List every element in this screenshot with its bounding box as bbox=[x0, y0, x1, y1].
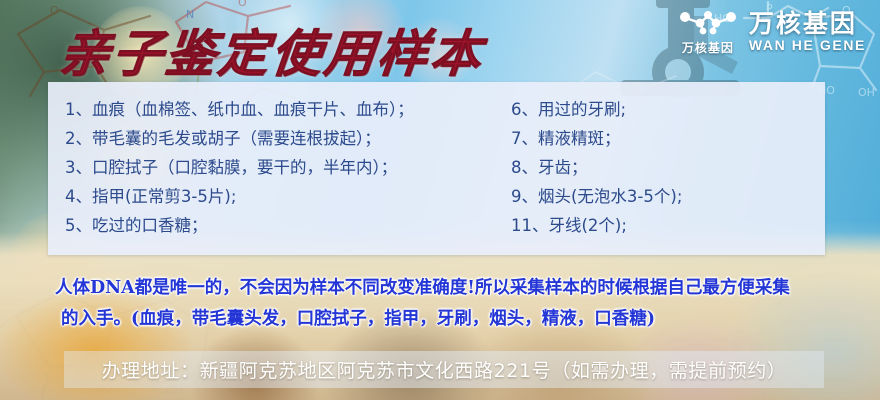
logo-wordmark: 万核基因 WAN HE GENE bbox=[749, 11, 866, 54]
sample-list-column-left: 1、血痕（血棉签、纸巾血、血痕干片、血布）； 2、带毛囊的毛发或胡子（需要连根拔… bbox=[48, 82, 493, 255]
list-item: 5、吃过的口香糖； bbox=[65, 211, 493, 240]
logo-wordmark-en: WAN HE GENE bbox=[749, 37, 866, 54]
list-item: 7、精液精斑； bbox=[511, 124, 825, 153]
list-item: 8、牙齿； bbox=[511, 153, 825, 182]
svg-text:OH: OH bbox=[858, 86, 875, 99]
address-text: 办理地址：新疆阿克苏地区阿克苏市文化西路221号（如需办理，需提前预约） bbox=[102, 356, 787, 383]
svg-text:O: O bbox=[50, 4, 59, 17]
list-item: 4、指甲(正常剪3-5片); bbox=[65, 182, 493, 211]
notice-paragraph: 人体DNA都是唯一的，不会因为样本不同改变准确度!所以采集样本的时候根据自己最方… bbox=[55, 273, 845, 335]
brand-logo: 万核基因 万核基因 WAN HE GENE bbox=[679, 9, 866, 56]
logo-mark: 万核基因 bbox=[679, 9, 737, 56]
molecule-icon bbox=[679, 9, 737, 37]
promo-banner: O HO OH N NH₂ O HO bbox=[0, 0, 880, 400]
list-item: 3、口腔拭子（口腔黏膜，要干的，半年内）； bbox=[65, 153, 493, 182]
address-bar: 办理地址：新疆阿克苏地区阿克苏市文化西路221号（如需办理，需提前预约） bbox=[64, 351, 824, 388]
logo-mark-label: 万核基因 bbox=[682, 39, 734, 56]
list-item: 1、血痕（血棉签、纸巾血、血痕干片、血布）； bbox=[65, 95, 493, 124]
sample-list-panel: 1、血痕（血棉签、纸巾血、血痕干片、血布）； 2、带毛囊的毛发或胡子（需要连根拔… bbox=[48, 82, 825, 255]
notice-line-2: 的入手。(血痕，带毛囊头发，口腔拭子，指甲，牙刷，烟头，精液，口香糖) bbox=[55, 304, 845, 335]
sample-list-column-right: 6、用过的牙刷; 7、精液精斑； 8、牙齿； 9、烟头(无泡水3-5个); 11… bbox=[493, 82, 825, 255]
list-item: 11、牙线(2个); bbox=[511, 211, 825, 240]
list-item: 9、烟头(无泡水3-5个); bbox=[511, 182, 825, 211]
list-item: 6、用过的牙刷; bbox=[511, 95, 825, 124]
notice-line-1: 人体DNA都是唯一的，不会因为样本不同改变准确度!所以采集样本的时候根据自己最方… bbox=[55, 273, 845, 304]
page-title: 亲子鉴定使用样本 bbox=[56, 14, 488, 86]
logo-wordmark-cn: 万核基因 bbox=[749, 11, 866, 37]
svg-text:O: O bbox=[238, 0, 247, 9]
list-item: 2、带毛囊的毛发或胡子（需要连根拔起）； bbox=[65, 124, 493, 153]
